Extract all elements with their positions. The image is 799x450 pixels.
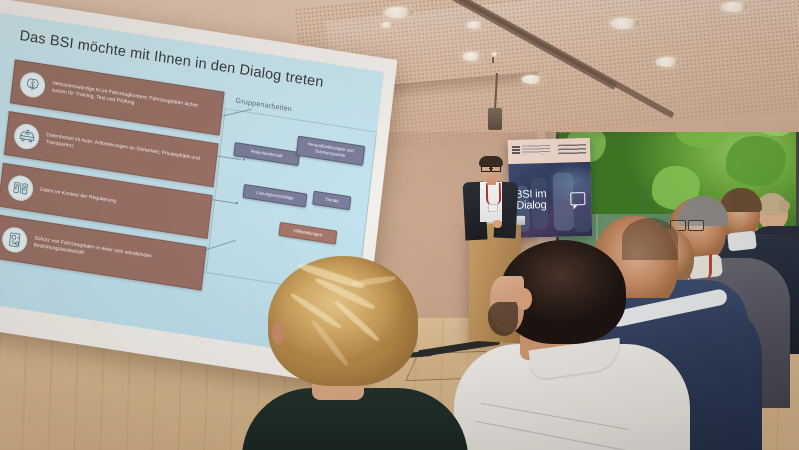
ceiling-downlight bbox=[521, 75, 543, 84]
rollup-event-text bbox=[558, 144, 586, 155]
speaker-name-badge bbox=[488, 204, 498, 212]
pendant-lamp-shade bbox=[488, 108, 502, 130]
speaker-glasses-icon bbox=[481, 166, 501, 170]
slide-row-text: Vertrauenswürdige KI im Fahrzeugkontext:… bbox=[51, 80, 215, 120]
connected-car-icon bbox=[13, 122, 41, 151]
blonde-attendee bbox=[268, 256, 468, 450]
attendee-hair bbox=[268, 256, 418, 386]
ceiling-downlight bbox=[655, 57, 679, 67]
brain-icon bbox=[19, 70, 47, 99]
ceiling-sensor-icon bbox=[492, 57, 494, 63]
speech-bubble-icon bbox=[570, 192, 585, 205]
ceiling-downlight bbox=[466, 21, 484, 29]
speaker-lanyard bbox=[486, 183, 501, 205]
white-shirt-attendee bbox=[500, 240, 730, 450]
slide-row-text: Schutz von Fahrzeugdaten in einer sich w… bbox=[33, 235, 197, 275]
ceiling-downlight bbox=[383, 7, 413, 18]
attendee-beard bbox=[488, 302, 518, 336]
ceiling-downlight bbox=[381, 22, 393, 28]
ceiling-downlight bbox=[609, 18, 639, 29]
speaker-hand bbox=[493, 220, 502, 228]
document-shield-icon bbox=[1, 225, 29, 254]
attendee-ear bbox=[272, 322, 284, 344]
conference-photo-scene: Das BSI möchte mit Ihnen in den Dialog t… bbox=[0, 0, 799, 450]
slide-row-list: Vertrauenswürdige KI im Fahrzeugkontext:… bbox=[0, 59, 225, 298]
bsi-logo-icon bbox=[512, 146, 520, 155]
paragraph-law-icon bbox=[7, 173, 35, 202]
attendee-ear bbox=[516, 288, 532, 310]
ceiling-downlight bbox=[720, 2, 748, 12]
slide-row-text: Datenhoheit im Auto: Anforderungen an Si… bbox=[45, 132, 209, 172]
ceiling-downlight bbox=[462, 52, 482, 61]
rollup-org-text bbox=[522, 145, 550, 155]
slide-row-text: Daten im Kontext der Regulierung bbox=[40, 187, 117, 206]
